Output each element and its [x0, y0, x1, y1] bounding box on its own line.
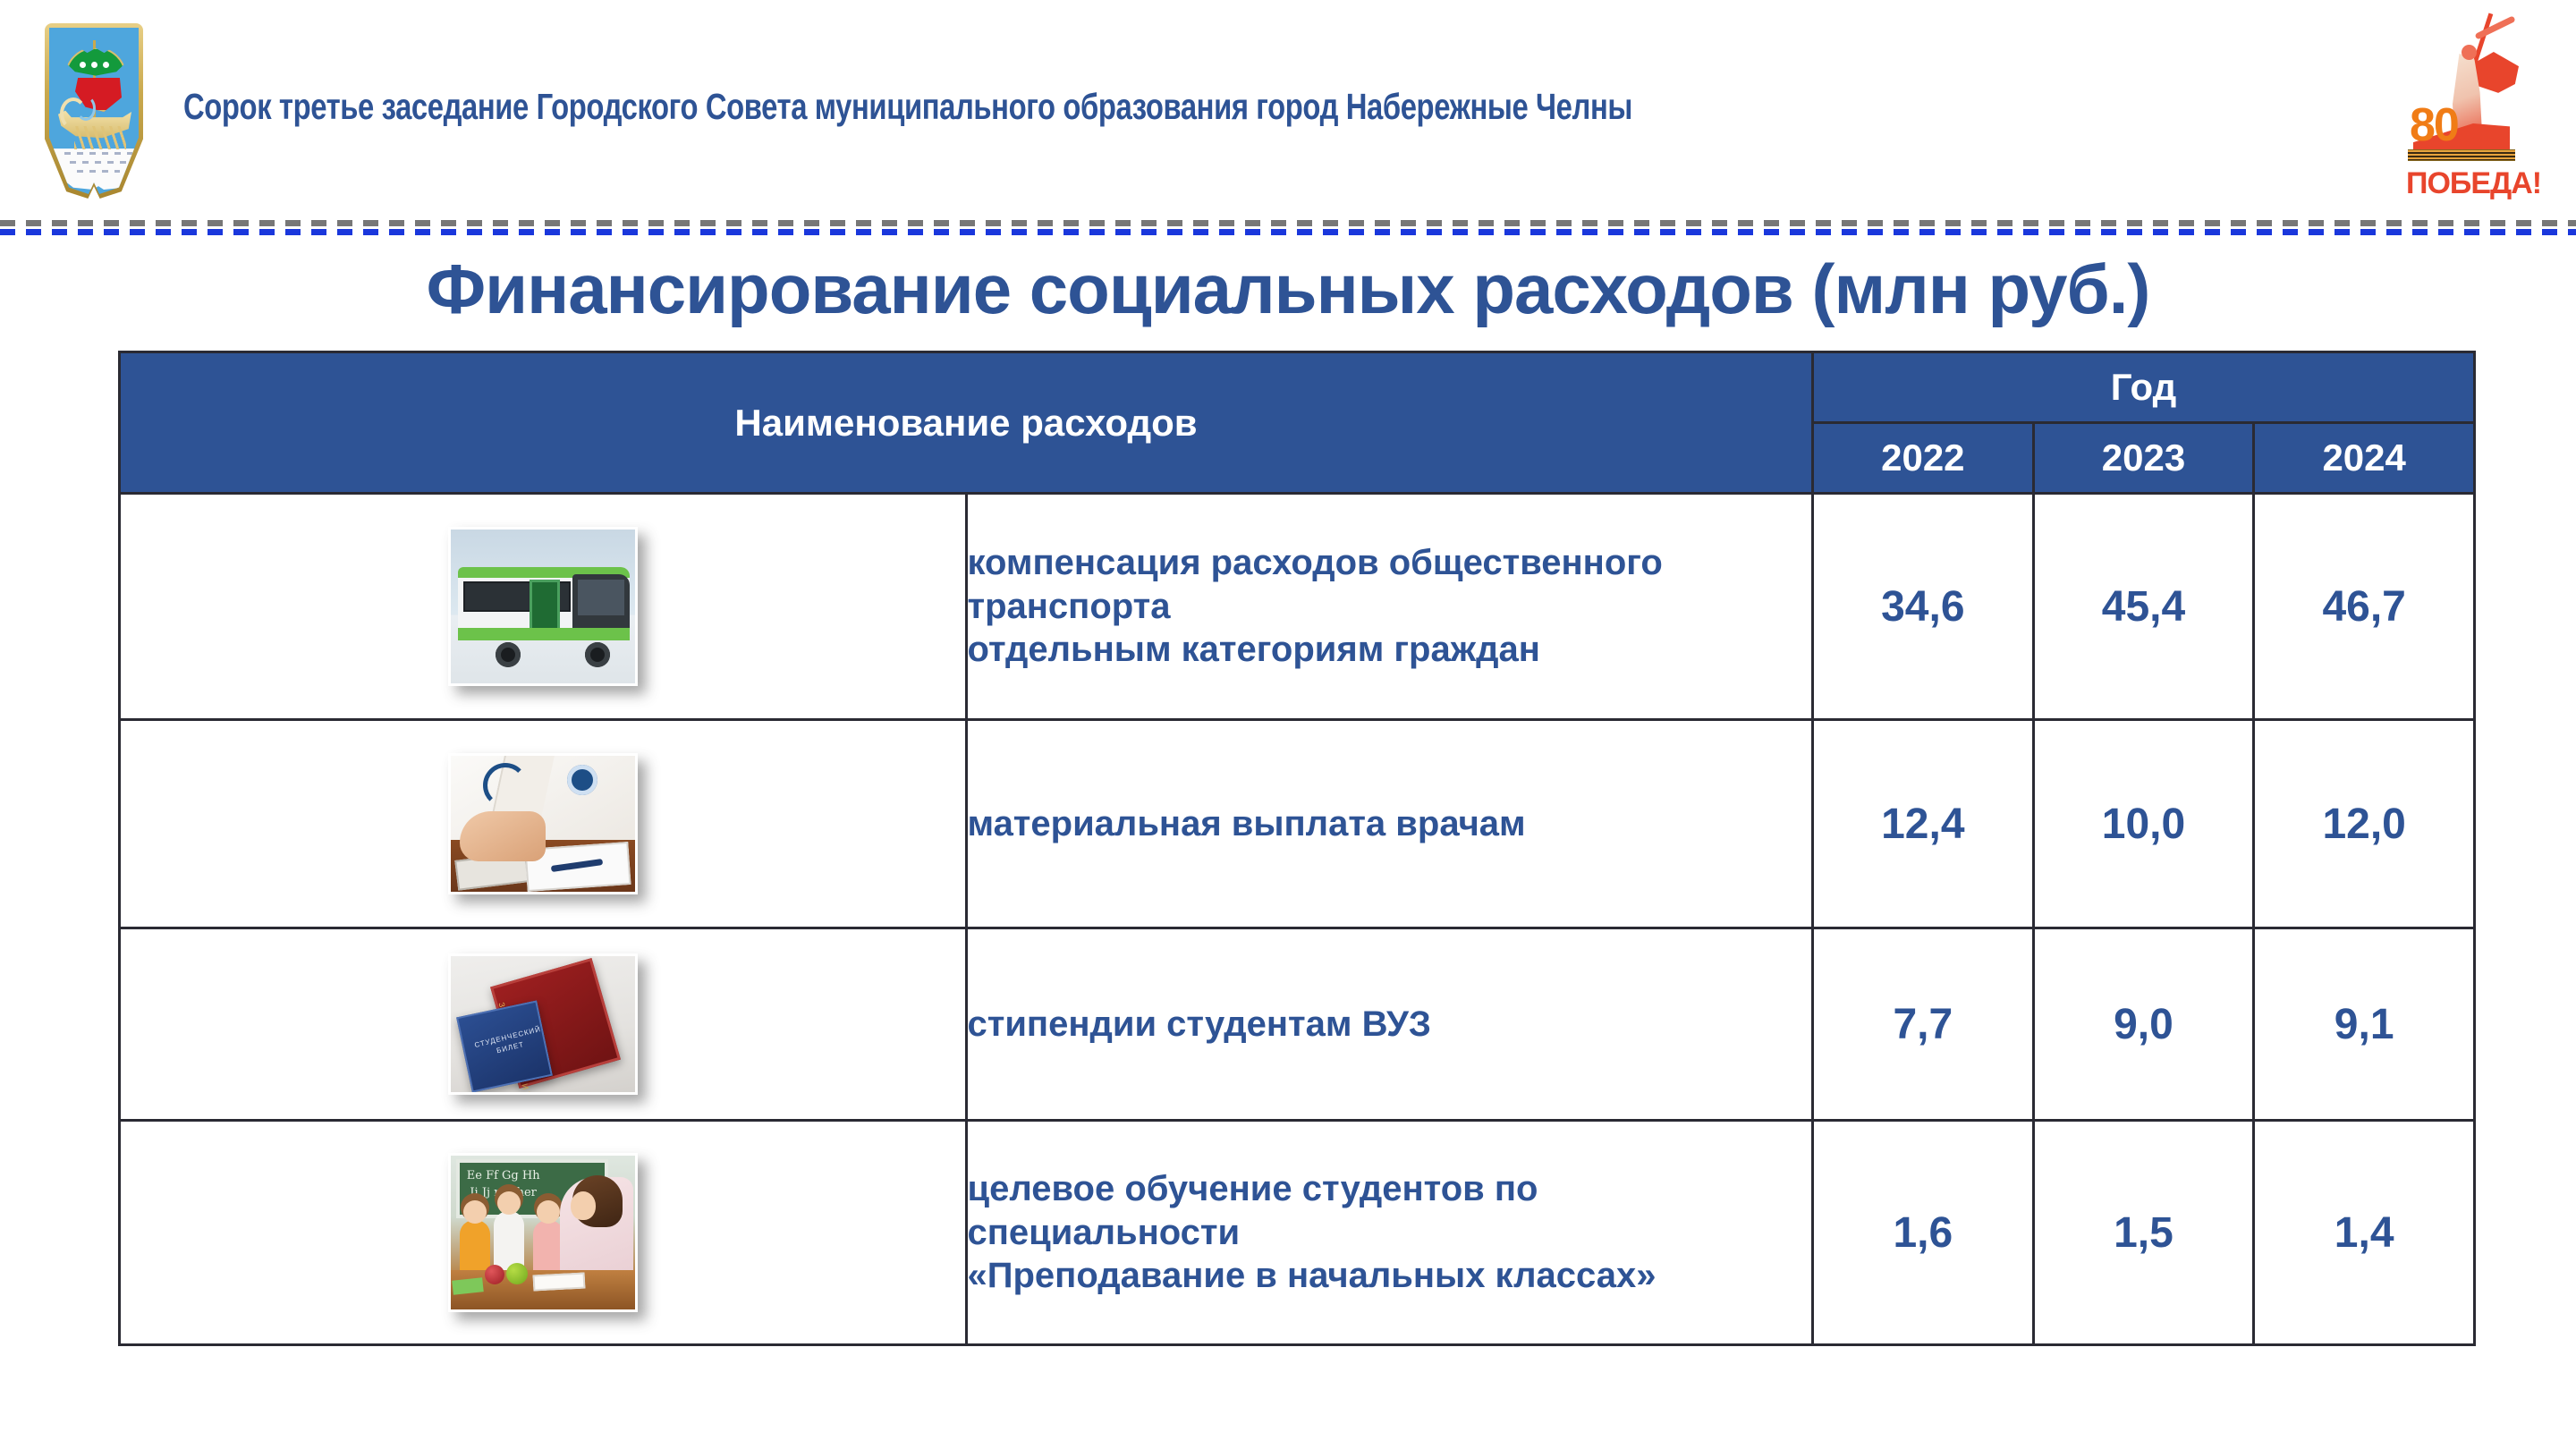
value-2022: 12,4 [1813, 720, 2034, 928]
value-2022: 34,6 [1813, 494, 2034, 720]
row-thumbnail-cell [120, 720, 967, 928]
hand [460, 811, 546, 861]
value-2024: 9,1 [2254, 928, 2475, 1121]
column-group-header-year: Год [1813, 352, 2475, 423]
table-row: компенсация расходов общественного транс… [120, 494, 2475, 720]
row-label-line-1: компенсация расходов общественного транс… [968, 541, 1812, 629]
bus-photo [448, 527, 638, 686]
row-label-cell: целевое обучение студентов по специально… [966, 1121, 1813, 1345]
shield-field [49, 28, 139, 194]
doctor-badge [567, 765, 597, 795]
value-2024: 12,0 [2254, 720, 2475, 928]
row-label-line-1: стипендии студентам ВУЗ [968, 1003, 1812, 1046]
divider-dashed-gray [0, 220, 2576, 226]
column-header-2022: 2022 [1813, 423, 2034, 494]
bus-wheel [496, 642, 521, 667]
student-figure [533, 1220, 563, 1270]
column-header-expense-name: Наименование расходов [120, 352, 1813, 494]
row-label-line-1: целевое обучение студентов по специально… [968, 1167, 1812, 1255]
column-header-2024: 2024 [2254, 423, 2475, 494]
student-head [463, 1200, 487, 1224]
arm-shape [2474, 15, 2515, 39]
social-expenses-table: Наименование расходов Год 2022 2023 2024 [118, 351, 2476, 1346]
column-header-2023: 2023 [2033, 423, 2254, 494]
table-body: компенсация расходов общественного транс… [120, 494, 2475, 1345]
victory-word: ПОБЕДА! [2406, 168, 2541, 199]
slide-header: Сорок третье заседание Городского Совета… [0, 0, 2576, 225]
value-2024: 46,7 [2254, 494, 2475, 720]
student-figure [460, 1220, 490, 1270]
victory-number: 80 [2410, 102, 2458, 148]
row-thumbnail-cell: Ee Ff Gg Hh Ii Jj mother [120, 1121, 967, 1345]
wave-line [70, 161, 127, 164]
table-header-row-1: Наименование расходов Год [120, 352, 2475, 423]
teacher-face [571, 1191, 596, 1220]
meeting-caption: Сорок третье заседание Городского Совета… [183, 86, 1564, 128]
table-head: Наименование расходов Год 2022 2023 2024 [120, 352, 2475, 494]
table-row: ЗАЧЕТНАЯ КНИЖКА СТУДЕНЧЕСКИЙ БИЛЕТ стипе… [120, 928, 2475, 1121]
row-label-cell: материальная выплата врачам [966, 720, 1813, 928]
st-george-ribbon [2408, 149, 2515, 161]
value-2023: 1,5 [2033, 1121, 2254, 1345]
chalkboard-line-1: Ee Ff Gg Hh [467, 1168, 540, 1185]
student-id-photo: ЗАЧЕТНАЯ КНИЖКА СТУДЕНЧЕСКИЙ БИЛЕТ [448, 953, 638, 1095]
row-label-line-1: материальная выплата врачам [968, 802, 1812, 846]
value-2023: 45,4 [2033, 494, 2254, 720]
value-2022: 1,6 [1813, 1121, 2034, 1345]
page-title: Финансирование социальных расходов (млн … [0, 249, 2576, 330]
open-book [532, 1272, 585, 1291]
student-head [537, 1200, 560, 1224]
student-figure [494, 1211, 524, 1270]
value-2023: 9,0 [2033, 928, 2254, 1121]
sail-dot [103, 62, 109, 68]
ribbon-shape [76, 96, 96, 121]
value-2024: 1,4 [2254, 1121, 2475, 1345]
row-label-cell: компенсация расходов общественного транс… [966, 494, 1813, 720]
row-thumbnail-cell [120, 494, 967, 720]
student-head [497, 1191, 521, 1215]
head-shape [2462, 45, 2477, 60]
green-apple [506, 1263, 528, 1284]
bus-windshield [578, 580, 624, 615]
wave-line [64, 152, 132, 155]
stethoscope-icon [483, 763, 528, 808]
row-thumbnail-cell: ЗАЧЕТНАЯ КНИЖКА СТУДЕНЧЕСКИЙ БИЛЕТ [120, 928, 967, 1121]
row-label-line-2: «Преподавание в начальных классах» [968, 1254, 1812, 1298]
sail-dot [91, 62, 97, 68]
city-coat-of-arms-icon [45, 23, 143, 207]
sail-dot [80, 62, 86, 68]
victory-80-anniversary-logo: 80 ПОБЕДА! [2399, 5, 2533, 204]
value-2023: 10,0 [2033, 720, 2254, 928]
bus-wheel [585, 642, 610, 667]
classroom-photo: Ee Ff Gg Hh Ii Jj mother [448, 1153, 638, 1312]
table-row: Ee Ff Gg Hh Ii Jj mother [120, 1121, 2475, 1345]
row-label-line-2: отдельным категориям граждан [968, 628, 1812, 672]
red-apple [485, 1265, 504, 1284]
doctor-photo [448, 753, 638, 894]
wave-line [77, 170, 120, 173]
bus-lower-stripe [458, 628, 630, 640]
student-id-text: СТУДЕНЧЕСКИЙ БИЛЕТ [471, 1023, 546, 1062]
value-2022: 7,7 [1813, 928, 2034, 1121]
divider-dashed-blue [0, 229, 2576, 235]
row-label-cell: стипендии студентам ВУЗ [966, 928, 1813, 1121]
table-row: материальная выплата врачам 12,4 10,0 12… [120, 720, 2475, 928]
